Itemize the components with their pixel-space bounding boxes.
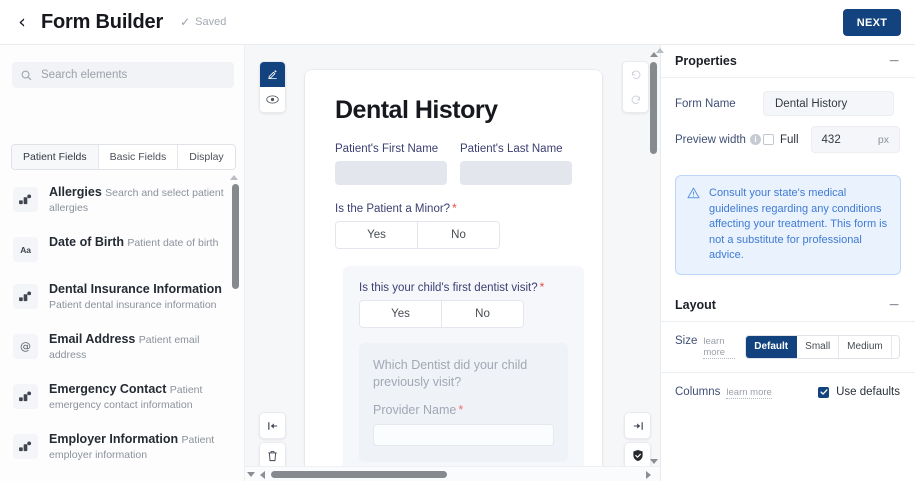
list-item[interactable]: Employer Information Patient employer in… — [0, 422, 245, 472]
layout-title: Layout — [675, 298, 716, 312]
provider-name-label: Provider Name* — [373, 403, 554, 417]
minor-question-field: Is the Patient a Minor?* Yes No — [335, 201, 572, 249]
list-item-title: Dental Insurance Information — [49, 282, 222, 296]
form-preview-card[interactable]: Dental History Patient's First Name Pati… — [305, 70, 602, 466]
required-asterisk: * — [452, 201, 457, 215]
required-asterisk: * — [458, 403, 463, 417]
tab-display[interactable]: Display — [178, 145, 234, 169]
size-option-medium[interactable]: Medium — [839, 336, 892, 358]
list-item-title: Employer Information — [49, 432, 178, 446]
saved-label: Saved — [195, 16, 226, 28]
columns-row: Columns learn more Use defaults — [661, 373, 915, 412]
canvas-vertical-scrollbar-thumb[interactable] — [650, 62, 657, 154]
undo-redo-toolbar — [622, 61, 649, 113]
which-dentist-section[interactable]: Which Dentist did your child previously … — [359, 343, 568, 462]
minor-question-label: Is the Patient a Minor?* — [335, 201, 572, 215]
first-name-label: Patient's First Name — [335, 143, 447, 155]
at-sign-icon: @ — [13, 334, 38, 359]
minor-option-no[interactable]: No — [418, 222, 499, 248]
back-chevron-left-icon[interactable]: ‹ — [14, 14, 30, 30]
minus-icon[interactable]: − — [888, 298, 900, 312]
tab-basic-fields[interactable]: Basic Fields — [99, 145, 179, 169]
info-icon[interactable]: i — [750, 134, 761, 145]
form-name-label: Form Name — [675, 98, 763, 110]
canvas-mode-toolbar — [259, 61, 286, 113]
provider-name-input[interactable] — [373, 424, 554, 446]
check-icon: ✓ — [180, 16, 190, 28]
collapse-right-icon[interactable] — [625, 413, 650, 438]
form-name-input[interactable]: Dental History — [763, 91, 894, 116]
sidebar-scrollbar-thumb[interactable] — [232, 184, 239, 289]
scroll-down-arrow[interactable] — [247, 472, 255, 477]
list-item[interactable]: Emergency Contact Patient emergency cont… — [0, 372, 245, 422]
list-item[interactable]: Family Status Patient family status — [0, 472, 245, 481]
minor-yes-no-group: Yes No — [335, 221, 500, 249]
first-visit-option-no[interactable]: No — [442, 301, 523, 327]
provider-name-text: Provider Name — [373, 403, 456, 417]
edit-pencil-icon[interactable] — [260, 62, 285, 87]
last-name-label: Patient's Last Name — [460, 143, 572, 155]
eye-icon[interactable] — [260, 87, 285, 112]
field-category-tabs: Patient Fields Basic Fields Display — [11, 144, 236, 170]
size-option-group: Default Small Medium Large — [745, 335, 900, 359]
form-name-row: Form Name Dental History — [675, 91, 900, 116]
form-builder-app: ‹ Form Builder ✓ Saved NEXT Patient Fiel… — [0, 0, 915, 481]
preview-width-row: Preview widthi Full 432 px — [675, 126, 900, 153]
use-defaults-label: Use defaults — [836, 386, 900, 398]
last-name-field[interactable]: Patient's Last Name — [460, 143, 572, 185]
properties-section-header: Properties − — [661, 45, 915, 78]
shield-toolbar — [624, 442, 651, 469]
size-label-group: Size learn more — [675, 335, 735, 359]
columns-label-group: Columns learn more — [675, 386, 772, 399]
preview-width-text: Preview width — [675, 134, 746, 146]
search-input[interactable] — [39, 68, 225, 82]
size-option-large[interactable]: Large — [892, 336, 900, 358]
list-item[interactable]: Aa Date of Birth Patient date of birth — [0, 225, 245, 272]
search-elements-box[interactable] — [12, 62, 234, 88]
list-item[interactable]: Dental Insurance Information Patient den… — [0, 272, 245, 322]
canvas-scroll-down-arrow[interactable] — [650, 459, 658, 464]
panel-scroll-up-arrow[interactable] — [656, 48, 664, 53]
preview-width-label: Preview widthi — [675, 134, 763, 146]
list-item[interactable]: @ Email Address Patient email address — [0, 322, 245, 372]
collapse-right-toolbar — [624, 412, 651, 439]
scroll-left-arrow[interactable] — [260, 471, 265, 479]
delete-toolbar — [259, 442, 286, 469]
which-dentist-question: Which Dentist did your child previously … — [373, 357, 554, 391]
callout-text: Consult your state's medical guidelines … — [709, 186, 888, 264]
collapse-left-toolbar — [259, 412, 286, 439]
scroll-right-arrow[interactable] — [646, 471, 651, 479]
blocks-icon — [13, 434, 38, 459]
last-name-input[interactable] — [460, 161, 572, 185]
next-button[interactable]: NEXT — [843, 9, 901, 36]
first-visit-question-text: Is this your child's first dentist visit… — [359, 282, 538, 294]
text-aa-icon: Aa — [13, 237, 38, 262]
list-item[interactable]: Allergies Search and select patient alle… — [0, 175, 245, 225]
list-item-subtitle: Patient dental insurance information — [49, 299, 217, 311]
full-width-label: Full — [780, 134, 799, 146]
page-title: Form Builder — [41, 11, 163, 34]
minus-icon[interactable]: − — [888, 54, 900, 68]
undo-icon[interactable] — [623, 62, 648, 87]
properties-title: Properties — [675, 54, 737, 68]
required-asterisk: * — [540, 280, 545, 294]
blocks-icon — [13, 187, 38, 212]
redo-icon[interactable] — [623, 87, 648, 112]
size-option-default[interactable]: Default — [746, 336, 797, 358]
top-bar: ‹ Form Builder ✓ Saved NEXT — [0, 0, 915, 45]
use-defaults-group: Use defaults — [818, 386, 900, 398]
size-row: Size learn more Default Small Medium Lar… — [661, 322, 915, 373]
first-visit-yes-no-group: Yes No — [359, 300, 524, 328]
list-item-title: Date of Birth — [49, 235, 124, 249]
preview-width-input[interactable]: 432 px — [811, 126, 900, 153]
first-visit-option-yes[interactable]: Yes — [360, 301, 442, 327]
size-label: Size — [675, 335, 697, 347]
search-icon — [21, 70, 32, 81]
saved-status: ✓ Saved — [180, 16, 226, 28]
preview-width-unit: px — [878, 134, 889, 146]
horizontal-scrollbar-thumb[interactable] — [271, 471, 447, 478]
minor-option-yes[interactable]: Yes — [336, 222, 418, 248]
minor-question-text: Is the Patient a Minor? — [335, 203, 450, 215]
name-field-row: Patient's First Name Patient's Last Name — [335, 143, 572, 185]
blocks-icon — [13, 284, 38, 309]
elements-sidebar: Patient Fields Basic Fields Display Alle… — [0, 45, 245, 481]
warning-triangle-icon — [687, 187, 700, 264]
layout-section-header: Layout − — [661, 289, 915, 322]
properties-body: Form Name Dental History Preview widthi … — [661, 78, 915, 173]
list-item-subtitle: Patient date of birth — [127, 237, 218, 249]
use-defaults-checkbox[interactable] — [818, 387, 829, 398]
sidebar-scrollbar[interactable] — [232, 180, 239, 481]
preview-width-value: 432 — [822, 134, 841, 146]
field-list: Allergies Search and select patient alle… — [0, 175, 245, 481]
full-width-checkbox[interactable] — [763, 134, 774, 145]
form-canvas: Dental History Patient's First Name Pati… — [245, 45, 660, 466]
collapse-left-icon[interactable] — [260, 413, 285, 438]
form-title: Dental History — [335, 96, 572, 125]
list-item-title: Emergency Contact — [49, 382, 166, 396]
medical-guidelines-callout: Consult your state's medical guidelines … — [675, 175, 901, 275]
tab-patient-fields[interactable]: Patient Fields — [12, 145, 99, 169]
trash-icon[interactable] — [260, 443, 285, 468]
first-name-field[interactable]: Patient's First Name — [335, 143, 447, 185]
first-visit-section[interactable]: Is this your child's first dentist visit… — [343, 266, 584, 466]
first-name-input[interactable] — [335, 161, 447, 185]
shield-check-icon[interactable] — [625, 443, 650, 468]
columns-learn-more-link[interactable]: learn more — [726, 387, 771, 399]
first-visit-question-label: Is this your child's first dentist visit… — [359, 280, 568, 294]
canvas-horizontal-scrollbar[interactable] — [245, 466, 660, 481]
properties-panel: Properties − Form Name Dental History Pr… — [660, 45, 915, 481]
blocks-icon — [13, 384, 38, 409]
list-item-title: Email Address — [49, 332, 135, 346]
columns-label: Columns — [675, 386, 720, 398]
size-learn-more-link[interactable]: learn more — [703, 336, 735, 359]
list-item-title: Allergies — [49, 185, 102, 199]
size-option-small[interactable]: Small — [797, 336, 839, 358]
